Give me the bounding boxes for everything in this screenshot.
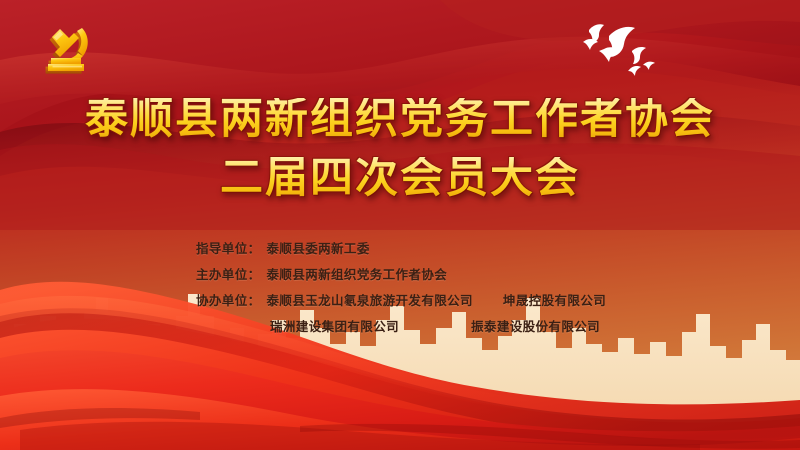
credit-row: 指导单位：泰顺县委两新工委 <box>196 236 716 262</box>
credit-label: 协办单位： <box>196 288 261 314</box>
title-block: 泰顺县两新组织党务工作者协会 二届四次会员大会 <box>0 98 800 200</box>
credit-row: 协办单位：泰顺县玉龙山氡泉旅游开发有限公司坤晟控股有限公司 <box>196 288 716 314</box>
credit-label: 指导单位： <box>196 236 261 262</box>
hammer-sickle-icon <box>38 20 100 80</box>
credit-value-primary: 泰顺县玉龙山氡泉旅游开发有限公司 <box>261 288 473 314</box>
cpc-hammer-sickle-emblem <box>38 20 100 80</box>
credit-row: 主办单位：泰顺县两新组织党务工作者协会 <box>196 262 716 288</box>
credit-value-primary: 泰顺县两新组织党务工作者协会 <box>261 262 448 288</box>
page-title-line-2: 二届四次会员大会 <box>0 157 800 200</box>
credit-label: 主办单位： <box>196 262 261 288</box>
credits-block: 指导单位：泰顺县委两新工委 主办单位：泰顺县两新组织党务工作者协会 协办单位：泰… <box>196 236 716 340</box>
credit-value-secondary: 振泰建设股份有限公司 <box>399 314 600 340</box>
credit-row: 瑞洲建设集团有限公司振泰建设股份有限公司 <box>196 314 716 340</box>
conference-backdrop-poster: 泰顺县两新组织党务工作者协会 二届四次会员大会 <box>0 0 800 450</box>
doves-icon <box>580 18 695 88</box>
page-title-line-1: 泰顺县两新组织党务工作者协会 <box>0 98 800 141</box>
credit-value-secondary: 坤晟控股有限公司 <box>473 288 606 314</box>
credit-value-primary: 泰顺县委两新工委 <box>261 236 370 262</box>
credit-value-primary: 瑞洲建设集团有限公司 <box>264 314 399 340</box>
flying-doves <box>580 18 695 88</box>
